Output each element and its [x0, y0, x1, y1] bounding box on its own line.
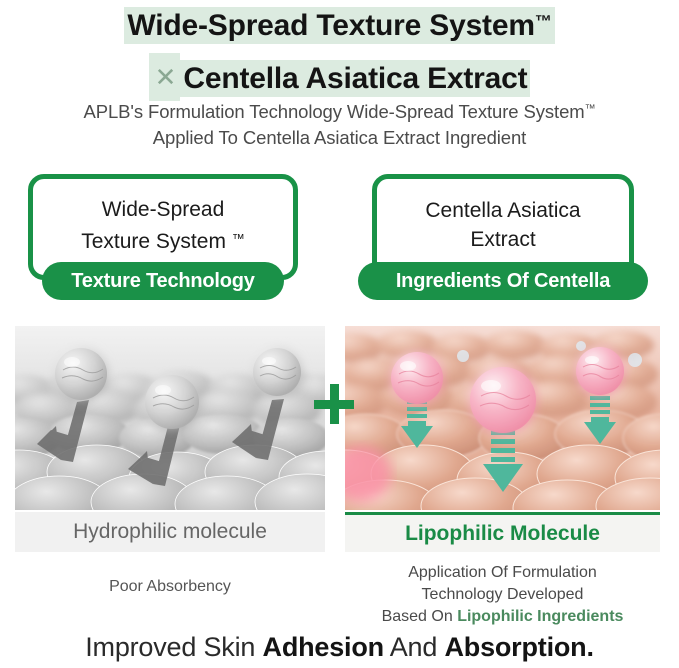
subcaption-poor-absorbency: Poor Absorbency [15, 578, 325, 596]
illustration-hydrophilic-molecule [15, 326, 325, 510]
concept-row: Wide-Spread Texture System ™ Texture Tec… [0, 174, 679, 310]
lipophilic-ingredients-accent: Lipophilic Ingredients [457, 608, 623, 625]
title-line-1-text: Wide-Spread Texture System™ [124, 7, 554, 44]
page-title: Wide-Spread Texture System™ ✕Centella As… [0, 0, 679, 106]
concept-title-line-2: Texture System ™ [81, 224, 245, 256]
plus-icon [314, 384, 354, 424]
subcaption-line-3: Based On Lipophilic Ingredients [345, 606, 660, 628]
subcaption-line-1: Application Of Formulation [345, 562, 660, 584]
trademark-symbol: ™ [585, 103, 596, 115]
concept-title-line-2: Extract [470, 225, 535, 254]
subcaption-application: Application Of Formulation Technology De… [345, 562, 660, 628]
title-line-2-text: Centella Asiatica Extract [180, 60, 530, 97]
cross-icon: ✕ [149, 53, 181, 101]
subtitle-line-2: Applied To Centella Asiatica Extract Ing… [0, 125, 679, 151]
subcaption-line-2: Technology Developed [345, 584, 660, 606]
badge-ingredients-of-centella: Ingredients Of Centella [358, 262, 648, 300]
illustration-lipophilic-molecule [345, 326, 660, 510]
hydrophilic-diagram [15, 326, 325, 510]
trademark-symbol: ™ [535, 12, 552, 31]
trademark-symbol: ™ [232, 231, 245, 246]
concept-title-line-1: Centella Asiatica [425, 196, 580, 225]
footer-part-2: And [384, 632, 445, 662]
footer-headline: Improved Skin Adhesion And Absorption. [0, 632, 679, 663]
page-subtitle: APLB's Formulation Technology Wide-Sprea… [0, 96, 679, 151]
subtitle-line-1: APLB's Formulation Technology Wide-Sprea… [0, 96, 679, 125]
caption-lipophilic: Lipophilic Molecule [345, 512, 660, 552]
concept-card-texture-system-title: Wide-Spread Texture System ™ [33, 179, 293, 275]
concept-title-line-1: Wide-Spread [102, 195, 225, 224]
footer-bold-absorption: Absorption. [444, 632, 593, 662]
title-line-1: Wide-Spread Texture System™ [0, 0, 679, 53]
concept-card-centella-extract-title: Centella Asiatica Extract [377, 179, 629, 275]
badge-texture-technology: Texture Technology [42, 262, 284, 300]
lipophilic-diagram [345, 326, 660, 510]
footer-part-1: Improved Skin [85, 632, 262, 662]
caption-hydrophilic: Hydrophilic molecule [15, 512, 325, 552]
footer-bold-adhesion: Adhesion [263, 632, 384, 662]
